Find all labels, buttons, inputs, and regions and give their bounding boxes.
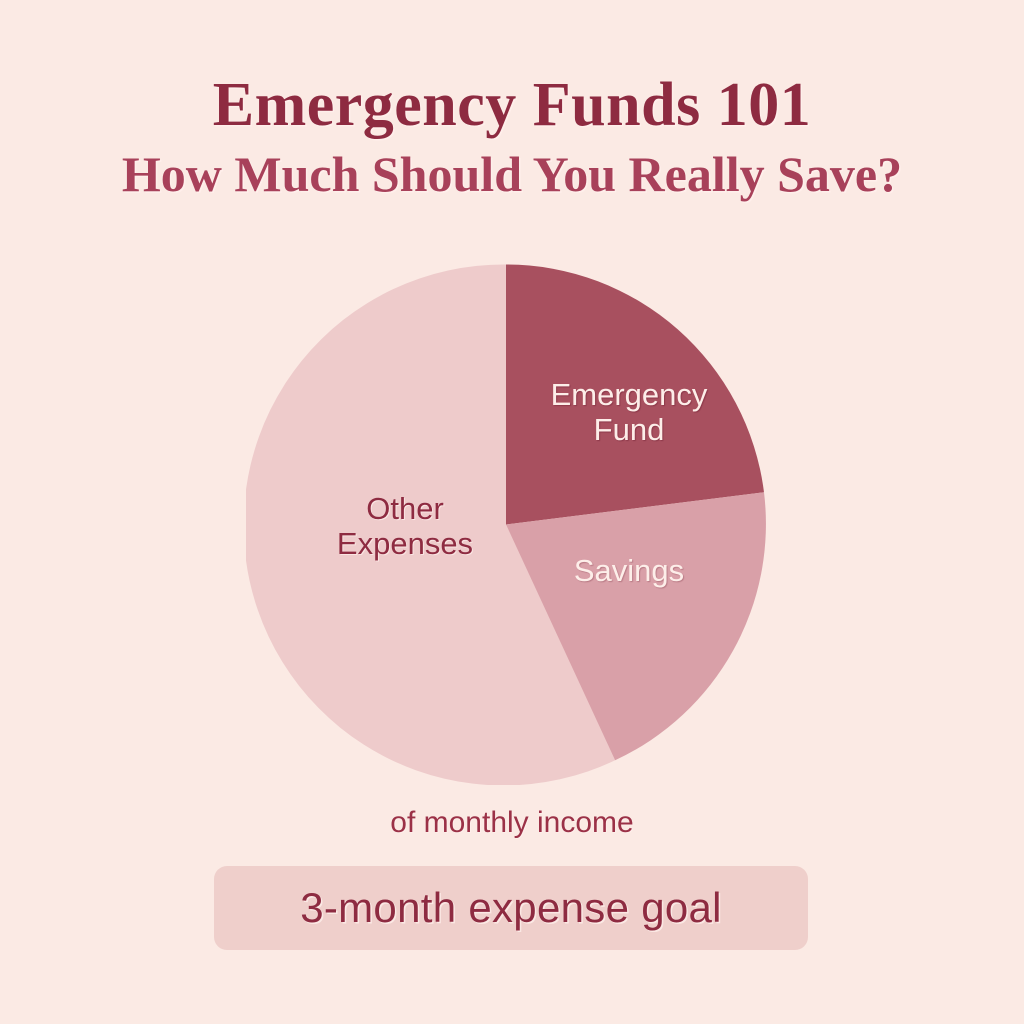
header: Emergency Funds 101 How Much Should You … [0, 74, 1024, 201]
pie-chart-svg [246, 264, 766, 785]
poster-root: Emergency Funds 101 How Much Should You … [0, 0, 1024, 1024]
page-subtitle: How Much Should You Really Save? [0, 148, 1024, 201]
pie-chart: Emergency Fund Savings Other Expenses [246, 264, 766, 785]
pie-slice-emergency-fund[interactable] [506, 265, 764, 525]
chart-caption: of monthly income [0, 806, 1024, 840]
page-title: Emergency Funds 101 [0, 74, 1024, 136]
goal-banner-label: 3-month expense goal [300, 884, 722, 932]
goal-banner: 3-month expense goal [214, 866, 808, 950]
